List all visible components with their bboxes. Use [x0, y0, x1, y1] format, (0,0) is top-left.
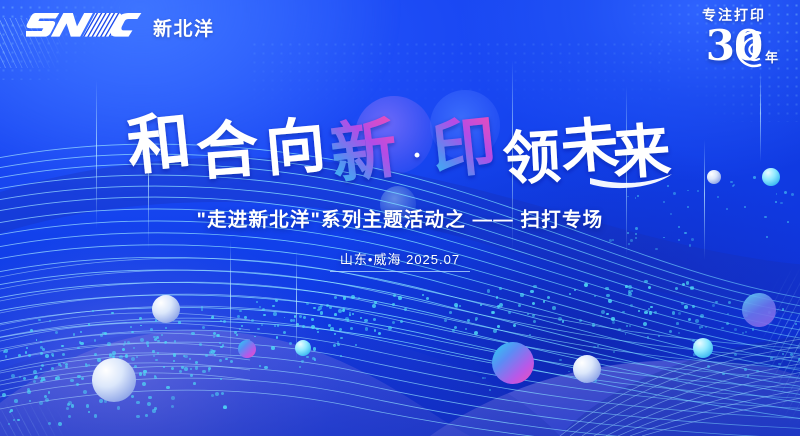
hero-subtitle: "走进新北洋"系列主题活动之 —— 扫打专场 [0, 203, 800, 232]
anniversary-unit: 年 [765, 47, 778, 66]
title-char: 向 [263, 111, 329, 186]
snbc-wordmark-icon [26, 10, 142, 45]
brand-name-cn: 新北洋 [153, 14, 215, 41]
hero-title-artwork: 和合向新·印领未来 [120, 92, 680, 196]
event-banner: 新北洋 专注打印 30 年 [0, 0, 800, 436]
title-char: 领 [501, 123, 562, 194]
brand-logo[interactable]: 新北洋 [26, 10, 215, 45]
title-char: 印 [428, 108, 499, 189]
title-char: · [412, 141, 421, 171]
title-char: 新 [326, 108, 401, 193]
anniversary-tagline: 专注打印 [682, 8, 786, 22]
hero-dateline: 山东•威海 2025.07 [330, 249, 470, 272]
hero-dateline-wrap: 山东•威海 2025.07 [0, 249, 800, 272]
anniversary-logo[interactable]: 专注打印 30 年 [682, 8, 786, 70]
hero-title: 和合向新·印领未来 [0, 92, 800, 196]
title-char: 合 [194, 112, 261, 189]
title-char: 和 [123, 104, 194, 185]
anniversary-number-block: 30 年 [682, 24, 786, 70]
